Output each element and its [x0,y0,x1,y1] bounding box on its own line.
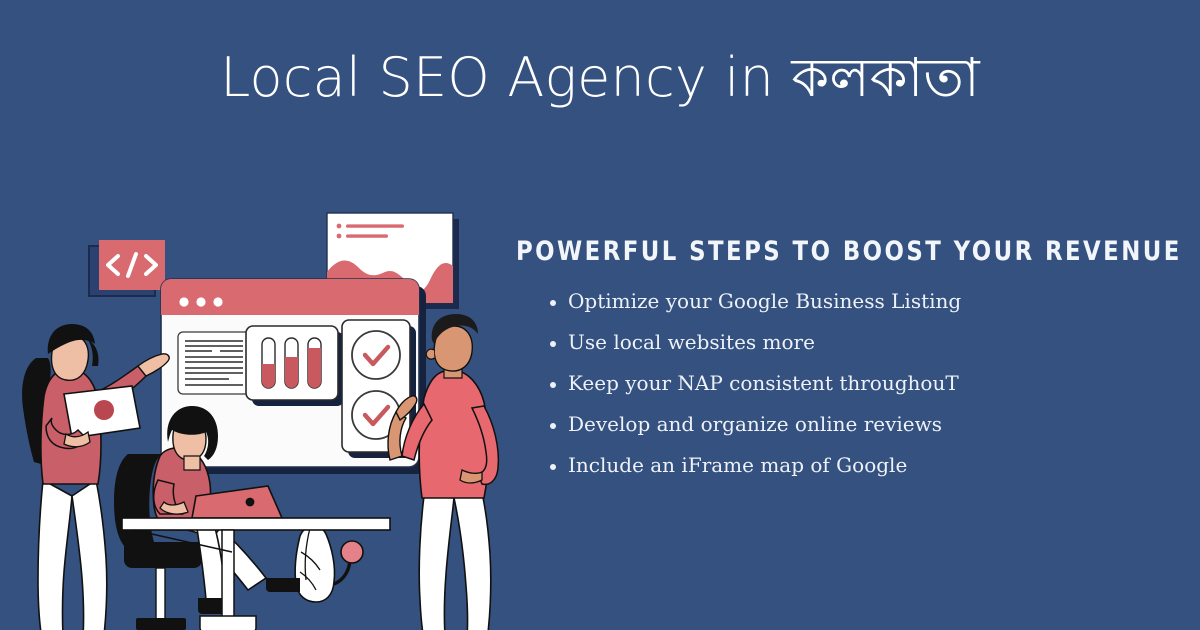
steps-list: Optimize your Google Business Listing Us… [516,291,1176,475]
list-item: Keep your NAP consistent throughouT [516,373,1176,393]
subheading: Powerful Steps to Boost Your Revenue [516,236,1136,267]
bullet-dot-icon [550,341,556,347]
text-lines-card [178,332,250,394]
list-item-label: Develop and organize online reviews [568,412,942,436]
bullet-dot-icon [550,423,556,429]
list-item: Optimize your Google Business Listing [516,291,1176,311]
list-item-label: Use local websites more [568,330,815,354]
list-item-label: Optimize your Google Business Listing [568,289,961,313]
plant-vase [295,525,363,602]
bullet-dot-icon [550,382,556,388]
code-badge-icon [89,240,165,296]
tablet-device [64,386,140,438]
list-item: Include an iFrame map of Google [516,455,1176,475]
list-item-label: Include an iFrame map of Google [568,453,907,477]
checklist-card [342,320,416,458]
seo-team-workspace-illustration [0,180,540,630]
bullet-dot-icon [550,464,556,470]
bullet-dot-icon [550,300,556,306]
gauge-bars-card [246,326,344,406]
content-column: Powerful Steps to Boost Your Revenue Opt… [516,236,1176,496]
list-item: Use local websites more [516,332,1176,352]
list-item: Develop and organize online reviews [516,414,1176,434]
page-title: Local SEO Agency in কলকাতা [0,48,1200,108]
poster-canvas: Local SEO Agency in কলকাতা [0,0,1200,630]
list-item-label: Keep your NAP consistent throughouT [568,371,959,395]
